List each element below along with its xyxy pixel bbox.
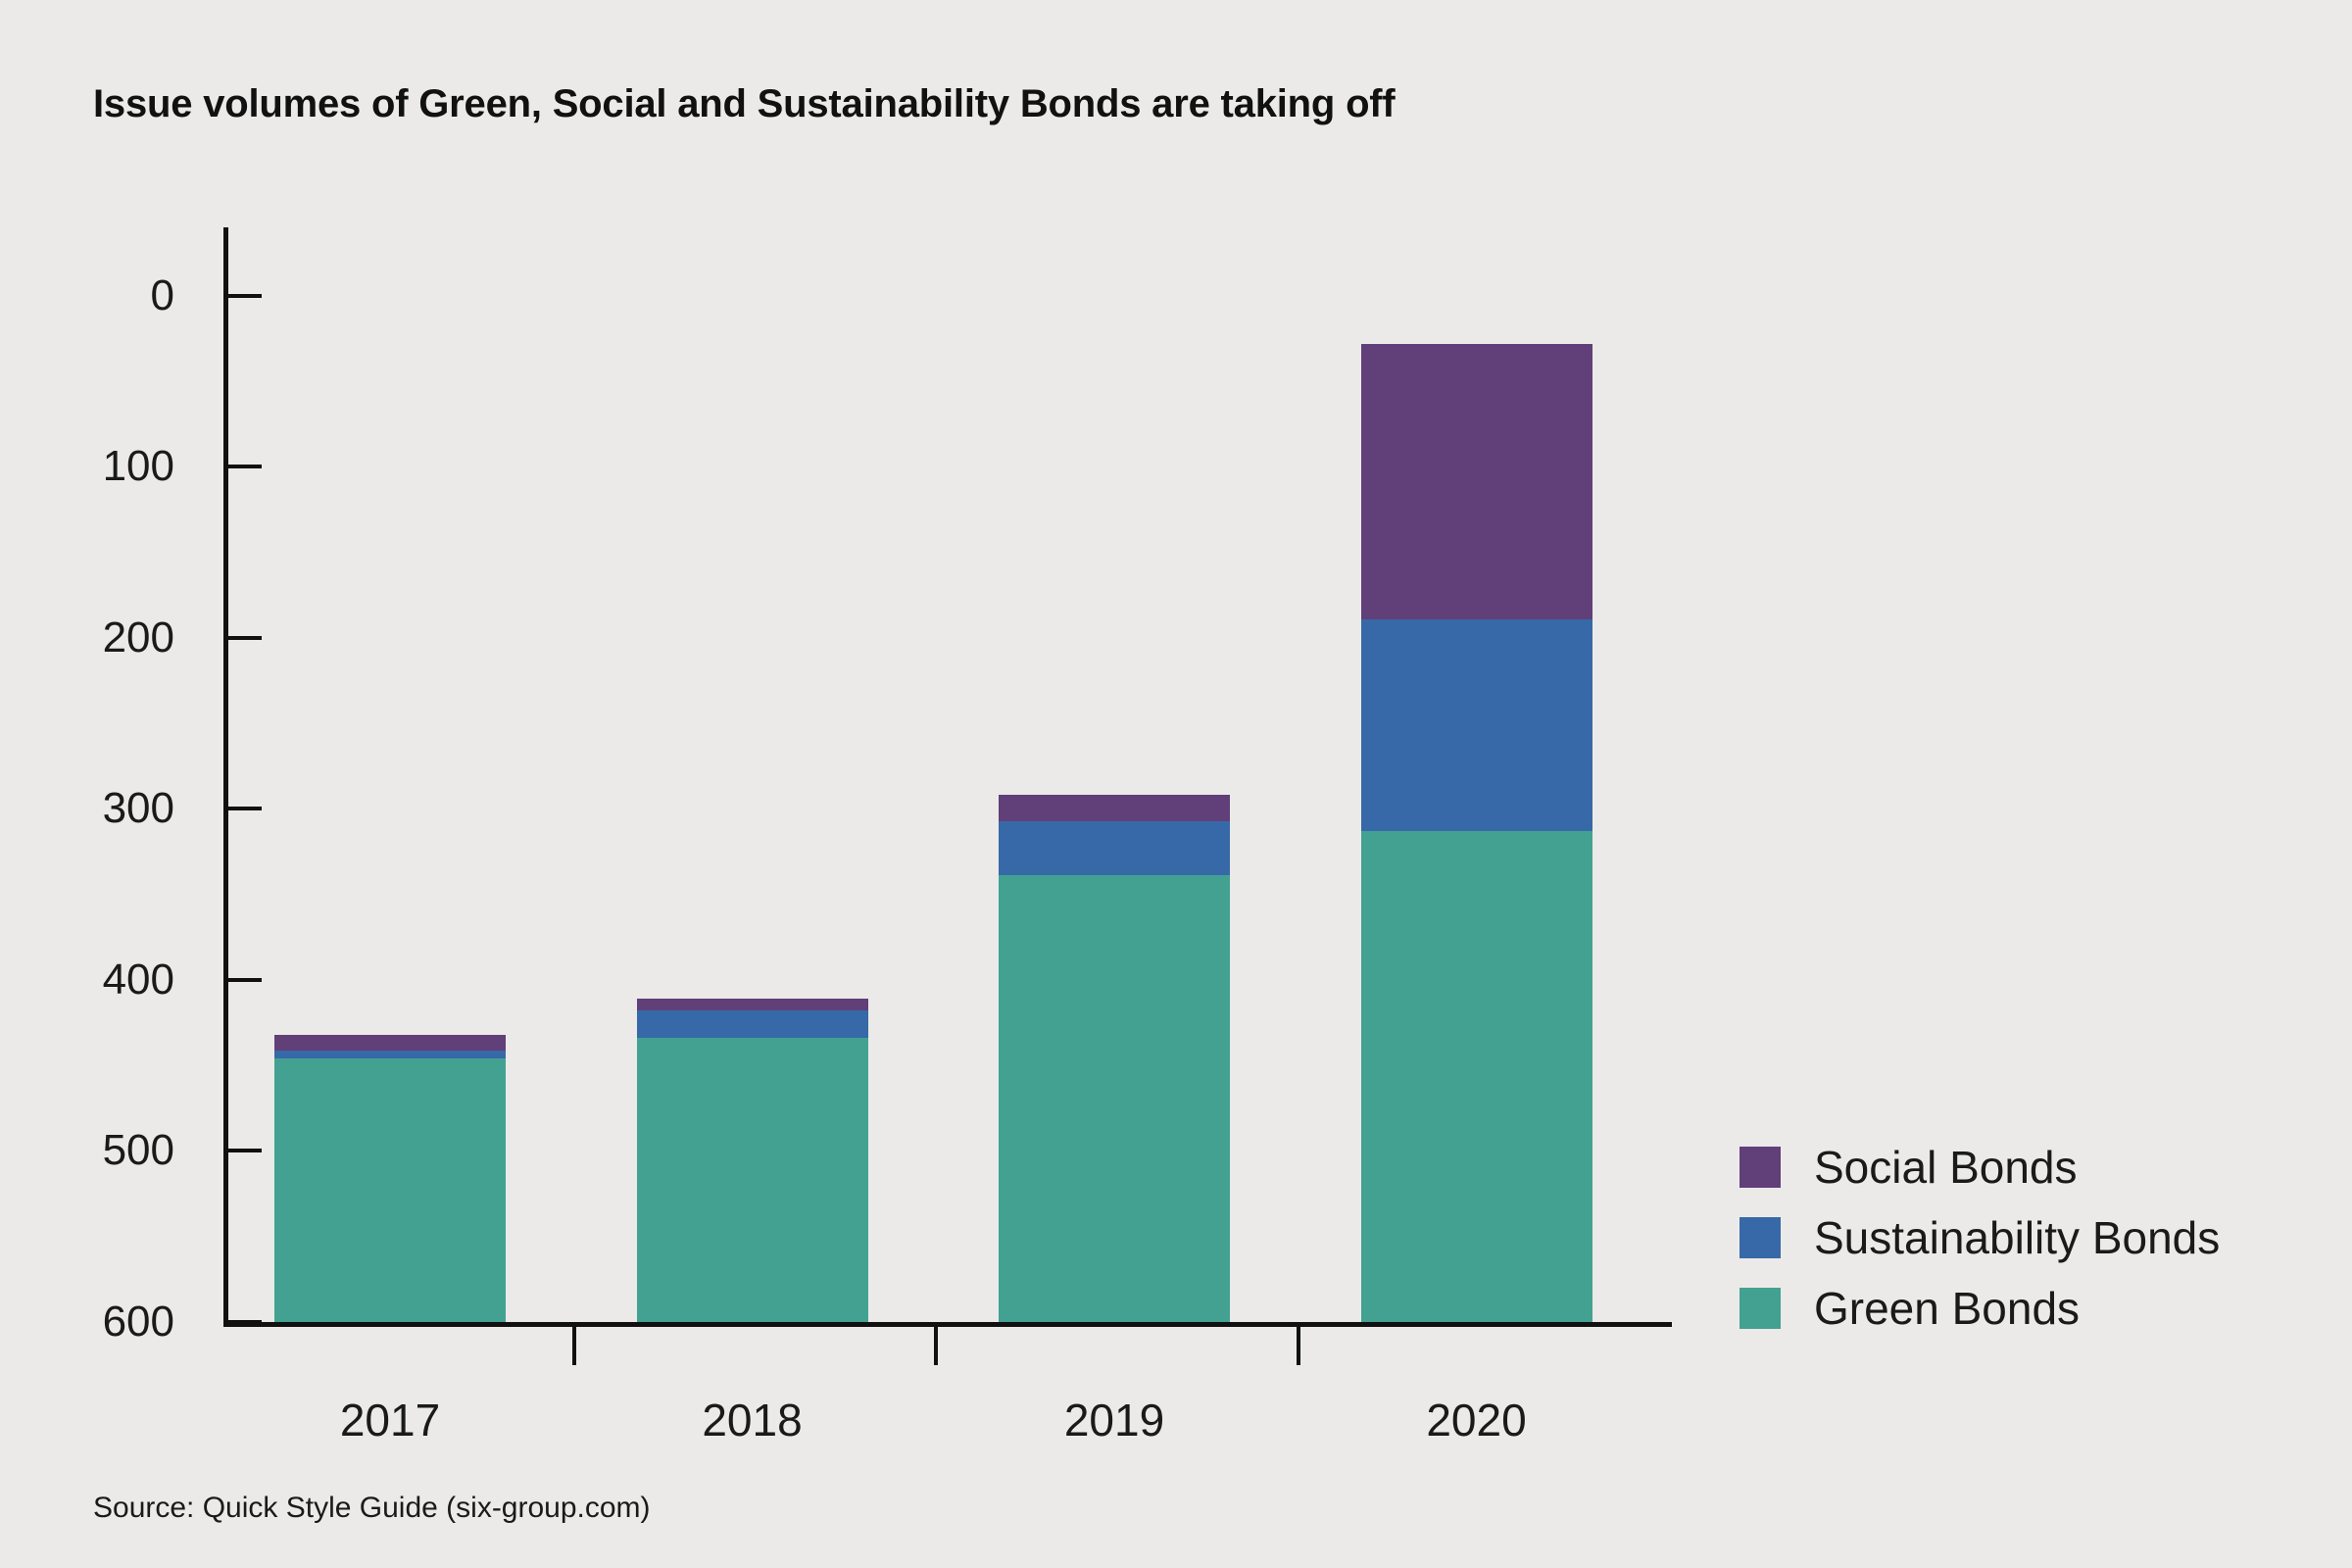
x-tick-mark (1297, 1326, 1300, 1365)
x-tick-label: 2018 (702, 1394, 802, 1446)
bar-segment[interactable] (637, 999, 868, 1010)
legend-item-sustainability[interactable]: Sustainability Bonds (1739, 1202, 2220, 1273)
bar-segment[interactable] (274, 1058, 506, 1322)
y-axis-line (223, 227, 228, 1325)
y-tick-label: 0 (151, 271, 174, 320)
bar-segment[interactable] (274, 1035, 506, 1051)
legend-swatch-icon (1739, 1217, 1781, 1258)
bar-segment[interactable] (999, 795, 1230, 820)
legend-label: Sustainability Bonds (1814, 1211, 2220, 1264)
bar-segment[interactable] (999, 875, 1230, 1322)
bar-stack[interactable] (999, 795, 1230, 1322)
y-tick-label: 400 (103, 955, 174, 1004)
source-note: Source: Quick Style Guide (six-group.com… (93, 1492, 651, 1525)
x-tick-mark (572, 1326, 576, 1365)
x-axis-line (223, 1322, 1672, 1327)
bar-segment[interactable] (1361, 831, 1592, 1322)
legend-swatch-icon (1739, 1147, 1781, 1188)
y-tick-mark (228, 978, 262, 982)
bar-segment[interactable] (637, 1038, 868, 1322)
legend-label: Social Bonds (1814, 1141, 2078, 1194)
y-tick-mark (228, 807, 262, 810)
y-tick-mark (228, 1320, 262, 1324)
legend-swatch-icon (1739, 1288, 1781, 1329)
plot-area: 6005004003002001000 2017201820192020 (223, 227, 1672, 1325)
y-tick-mark (228, 465, 262, 468)
page-title: Issue volumes of Green, Social and Susta… (93, 82, 1396, 126)
y-tick-mark (228, 1149, 262, 1152)
y-tick-label: 200 (103, 613, 174, 662)
x-tick-label: 2017 (340, 1394, 440, 1446)
y-tick-label: 600 (103, 1298, 174, 1347)
y-tick-label: 300 (103, 784, 174, 833)
legend: Social BondsSustainability BondsGreen Bo… (1739, 1132, 2220, 1344)
y-tick-label: 100 (103, 442, 174, 491)
legend-label: Green Bonds (1814, 1282, 2080, 1335)
legend-item-social[interactable]: Social Bonds (1739, 1132, 2220, 1202)
bar-segment[interactable] (999, 821, 1230, 876)
legend-item-green[interactable]: Green Bonds (1739, 1273, 2220, 1344)
bar-segment[interactable] (274, 1051, 506, 1059)
x-tick-mark (934, 1326, 938, 1365)
bar-segment[interactable] (1361, 619, 1592, 831)
x-tick-label: 2020 (1426, 1394, 1526, 1446)
bar-stack[interactable] (274, 1035, 506, 1322)
bar-stack[interactable] (637, 999, 868, 1322)
y-tick-mark (228, 636, 262, 640)
y-tick-label: 500 (103, 1126, 174, 1175)
x-tick-label: 2019 (1064, 1394, 1164, 1446)
bar-segment[interactable] (1361, 344, 1592, 619)
bar-segment[interactable] (637, 1010, 868, 1038)
bar-stack[interactable] (1361, 344, 1592, 1322)
y-tick-mark (228, 294, 262, 298)
